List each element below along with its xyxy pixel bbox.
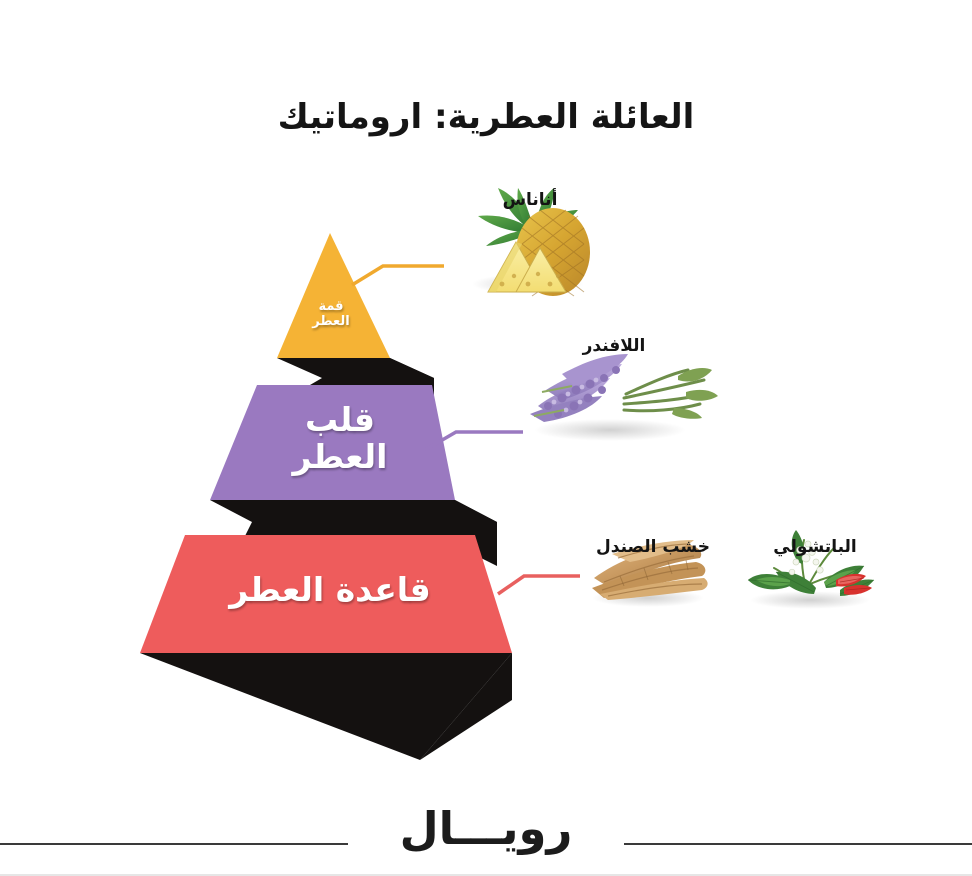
pyramid-tier-heart[interactable] [210,385,455,500]
lavender-icon [530,354,718,441]
note-sandalwood: خشب الصندل [578,533,728,557]
pyramid-tier-top[interactable] [277,233,390,358]
footer-divider-right [624,843,972,845]
note-patchouli-label: الباتشولي [740,537,890,557]
note-lavender: اللافندر [516,332,712,356]
fragrance-pyramid-graphic [0,0,972,800]
note-lavender-label: اللافندر [516,336,712,356]
pyramid-tier-base[interactable] [140,535,512,653]
footer: رويـــال [0,780,972,876]
note-sandalwood-label: خشب الصندل [578,537,728,557]
note-pineapple: أناناس [440,186,620,210]
note-patchouli: الباتشولي [740,533,890,557]
connector-line-base [498,576,580,594]
pyramid-shadow-base [140,653,512,760]
brand-name: رويـــال [0,802,972,855]
connector-line-top [352,266,444,285]
infographic-page: العائلة العطرية: اروماتيك [0,0,972,876]
note-pineapple-label: أناناس [440,190,620,210]
